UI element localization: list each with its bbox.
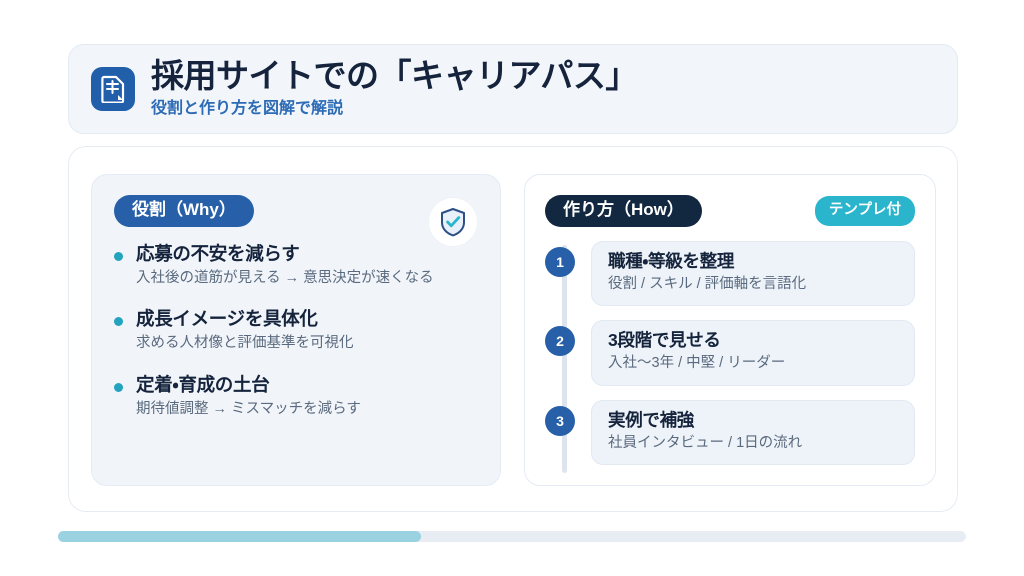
step-description: 社員インタビュー / 1日の流れ [608, 434, 898, 454]
timeline-line [562, 245, 567, 473]
document-file-icon [91, 67, 135, 111]
bullet-dot-icon [114, 317, 123, 326]
step-number-badge: 2 [545, 326, 575, 356]
how-badge: 作り方（How） [545, 195, 702, 227]
why-panel: 役割（Why） 応募の不安を減らす 入社後の道筋が見える → 意思決定が速くなる… [91, 174, 501, 486]
step-title: 職種・等級を整理 [608, 251, 898, 272]
page-title: 採用サイトでの「キャリアパス」 [151, 58, 638, 95]
why-item-title: 応募の不安を減らす [136, 243, 478, 265]
why-item-description: 入社後の道筋が見える → 意思決定が速くなる [136, 269, 478, 289]
step-card: 実例で補強 社員インタビュー / 1日の流れ [591, 400, 915, 466]
why-item-description: 求める人材像と評価基準を可視化 [136, 334, 478, 354]
infographic-canvas: 採用サイトでの「キャリアパス」 役割と作り方を図解で解説 役割（Why） 応募の… [0, 0, 1024, 576]
step-card: 3段階で見せる 入社〜3年 / 中堅 / リーダー [591, 320, 915, 386]
progress-bar-track [58, 531, 966, 542]
step-title: 3段階で見せる [608, 330, 898, 351]
why-item: 成長イメージを具体化 求める人材像と評価基準を可視化 [114, 308, 478, 354]
progress-bar-fill [58, 531, 421, 542]
step-title: 実例で補強 [608, 410, 898, 431]
step-number-badge: 1 [545, 247, 575, 277]
how-panel: 作り方（How） テンプレ付 1 職種・等級を整理 役割 / スキル / 評価軸… [524, 174, 936, 486]
why-item-list: 応募の不安を減らす 入社後の道筋が見える → 意思決定が速くなる 成長イメージを… [114, 243, 478, 420]
step-number-badge: 3 [545, 406, 575, 436]
step-item: 3 実例で補強 社員インタビュー / 1日の流れ [591, 400, 915, 466]
step-item: 1 職種・等級を整理 役割 / スキル / 評価軸を言語化 [591, 241, 915, 307]
why-item-title: 成長イメージを具体化 [136, 308, 478, 330]
step-item: 2 3段階で見せる 入社〜3年 / 中堅 / リーダー [591, 320, 915, 386]
how-panel-header: 作り方（How） テンプレ付 [545, 195, 915, 227]
step-card: 職種・等級を整理 役割 / スキル / 評価軸を言語化 [591, 241, 915, 307]
why-item-title: 定着・育成の土台 [136, 374, 478, 396]
shield-check-icon [428, 197, 478, 247]
why-item: 応募の不安を減らす 入社後の道筋が見える → 意思決定が速くなる [114, 243, 478, 289]
why-item-description: 期待値調整 → ミスマッチを減らす [136, 400, 478, 420]
why-item: 定着・育成の土台 期待値調整 → ミスマッチを減らす [114, 374, 478, 420]
main-content-card: 役割（Why） 応募の不安を減らす 入社後の道筋が見える → 意思決定が速くなる… [68, 146, 958, 512]
step-description: 入社〜3年 / 中堅 / リーダー [608, 354, 898, 374]
page-subtitle: 役割と作り方を図解で解説 [151, 99, 638, 120]
bullet-dot-icon [114, 252, 123, 261]
header-text-group: 採用サイトでの「キャリアパス」 役割と作り方を図解で解説 [151, 58, 638, 120]
header-bar: 採用サイトでの「キャリアパス」 役割と作り方を図解で解説 [68, 44, 958, 134]
bullet-dot-icon [114, 383, 123, 392]
step-description: 役割 / スキル / 評価軸を言語化 [608, 275, 898, 295]
template-tag-badge: テンプレ付 [815, 196, 915, 226]
step-list: 1 職種・等級を整理 役割 / スキル / 評価軸を言語化 2 3段階で見せる … [545, 241, 915, 466]
why-badge: 役割（Why） [114, 195, 254, 227]
